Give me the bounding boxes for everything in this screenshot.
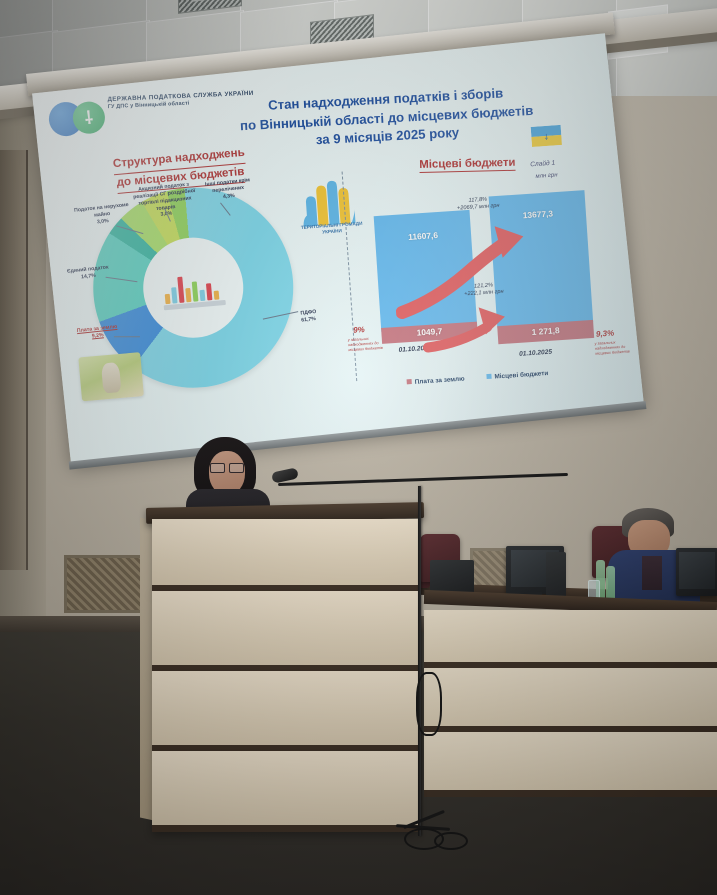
attendee-shirt xyxy=(642,556,662,590)
wall-vent-grille xyxy=(64,555,150,613)
presentation-slide: ⸸ ДЕРЖАВНА ПОДАТКОВА СЛУЖБА УКРАЇНИ ГУ Д… xyxy=(32,33,644,463)
podium-panel xyxy=(152,671,418,752)
trident-icon: ⸸ xyxy=(84,109,94,127)
monitor xyxy=(676,548,717,596)
podium-panel xyxy=(152,519,418,592)
table-front-panel xyxy=(424,668,717,733)
pie-label-excise-tax: Акцизний податок з реалізації СГ роздріб… xyxy=(130,181,199,222)
legend-item-budget: Місцеві бюджети xyxy=(486,369,548,380)
share-note-2024: у загальних надходженнях до місцевих бюд… xyxy=(348,335,395,353)
screen-surface: ⸸ ДЕРЖАВНА ПОДАТКОВА СЛУЖБА УКРАЇНИ ГУ Д… xyxy=(32,33,644,463)
svg-text:⸸: ⸸ xyxy=(544,133,549,142)
podium xyxy=(152,505,420,835)
bar-chart-heading: Місцеві бюджети xyxy=(392,156,542,171)
bar-chart: Місцеві бюджети 11607,6 1049,7 01.10.202… xyxy=(360,179,620,385)
podium-panel xyxy=(152,591,418,672)
wheat-photo xyxy=(78,352,144,401)
table-front-panel xyxy=(424,610,717,669)
cable-coil xyxy=(434,832,468,850)
mini-bar-illustration-icon xyxy=(161,265,226,310)
share-percent-2024: 9% xyxy=(353,325,365,335)
units-label: млн грн xyxy=(535,172,557,180)
share-percent-2025: 9,3% xyxy=(596,329,615,339)
table-front-panel xyxy=(424,732,717,797)
projection-screen: ⸸ ДЕРЖАВНА ПОДАТКОВА СЛУЖБА УКРАЇНИ ГУ Д… xyxy=(26,12,657,491)
growth-arrow-lower-icon xyxy=(420,300,533,357)
pie-label-pdfo: ПДФО61,7% xyxy=(300,306,341,324)
ukraine-flag-badge-icon: ⸸ xyxy=(531,125,562,147)
eyeglasses-icon xyxy=(210,463,244,471)
legend-item-land: Плата за землю xyxy=(407,375,465,386)
podium-panel xyxy=(152,751,418,832)
screenshot-root: ⸸ ДЕРЖАВНА ПОДАТКОВА СЛУЖБА УКРАЇНИ ГУ Д… xyxy=(0,0,717,895)
bar-chart-legend: Плата за землю Місцеві бюджети xyxy=(406,369,548,386)
conference-table xyxy=(424,596,717,826)
cable-loop xyxy=(416,672,442,736)
microphone-stand xyxy=(418,486,421,836)
share-note-2025: у загальних надходженнях до місцевих бюд… xyxy=(594,339,641,357)
door-frame xyxy=(0,150,28,570)
